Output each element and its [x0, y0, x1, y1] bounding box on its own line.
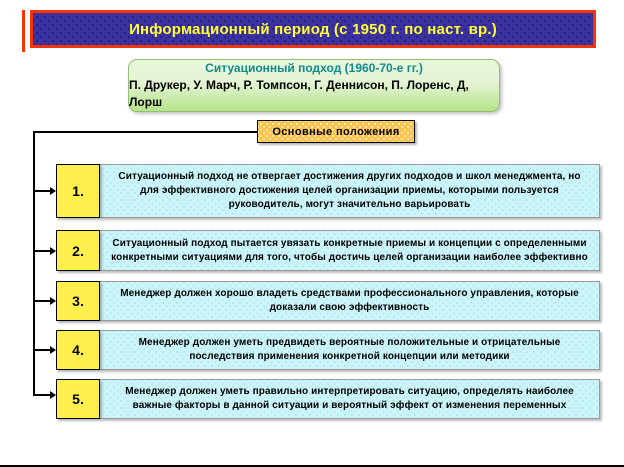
approach-name: Ситуационный подход (1960-70-е гг.): [205, 60, 423, 77]
point-number-1: 1.: [56, 164, 100, 218]
point-text-box-3: Менеджер должен хорошо владеть средствам…: [100, 281, 600, 321]
connector-top-horizontal: [33, 131, 257, 133]
title-accent-bar: [22, 10, 25, 52]
point-text-box-4: Менеджер должен уметь предвидеть вероятн…: [100, 330, 600, 370]
point-text-box-1: Ситуационный подход не отвергает достиже…: [100, 164, 600, 218]
point-row-3: 3. Менеджер должен хорошо владеть средст…: [56, 281, 600, 321]
approach-authors: П. Друкер, У. Марч, Р. Томпсон, Г. Денни…: [129, 77, 499, 111]
headline-badge: Основные положения: [257, 120, 415, 143]
point-row-2: 2. Ситуационный подход пытается увязать …: [56, 230, 600, 271]
point-row-1: 1. Ситуационный подход не отвергает дост…: [56, 164, 600, 218]
point-text-1: Ситуационный подход не отвергает достиже…: [108, 170, 591, 212]
point-number-2: 2.: [56, 230, 100, 271]
point-text-3: Менеджер должен хорошо владеть средствам…: [108, 287, 591, 315]
slide-title-banner: Информационный период (с 1950 г. по наст…: [30, 10, 596, 48]
point-number-4: 4.: [56, 330, 100, 370]
point-number-3: 3.: [56, 281, 100, 321]
point-row-5: 5. Менеджер должен уметь правильно интер…: [56, 379, 600, 419]
page-title: Информационный период (с 1950 г. по наст…: [129, 21, 497, 38]
connector-spine-vertical: [33, 131, 35, 394]
point-row-4: 4. Менеджер должен уметь предвидеть веро…: [56, 330, 600, 370]
point-text-2: Ситуационный подход пытается увязать кон…: [108, 237, 591, 265]
approach-card: Ситуационный подход (1960-70-е гг.) П. Д…: [128, 59, 500, 112]
point-number-5: 5.: [56, 379, 100, 419]
point-text-4: Менеджер должен уметь предвидеть вероятн…: [108, 336, 591, 364]
point-text-5: Менеджер должен уметь правильно интерпре…: [108, 385, 591, 413]
point-text-box-5: Менеджер должен уметь правильно интерпре…: [100, 379, 600, 419]
slide-canvas: Информационный период (с 1950 г. по наст…: [0, 0, 624, 467]
point-text-box-2: Ситуационный подход пытается увязать кон…: [100, 230, 600, 271]
headline-label: Основные положения: [272, 126, 399, 138]
